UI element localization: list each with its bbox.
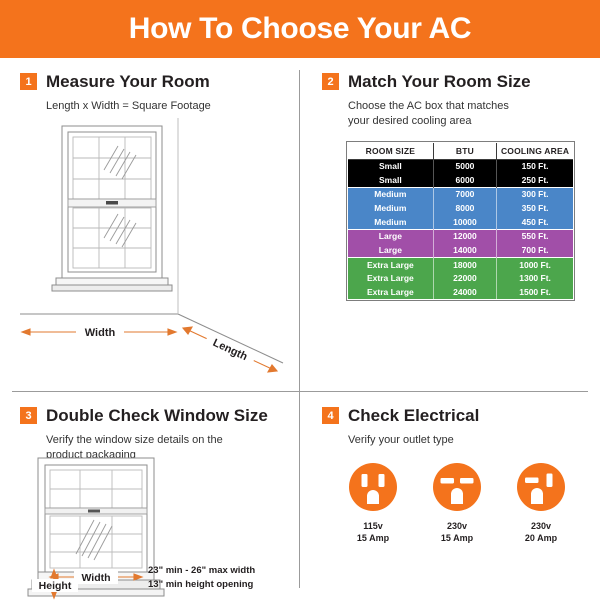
- steps-grid: 1 Measure Your Room Length x Width = Squ…: [0, 58, 600, 600]
- step-2-heading: 2 Match Your Room Size: [300, 58, 600, 90]
- step-2-title: Match Your Room Size: [348, 73, 531, 90]
- outlet-item-230v-20amp: 230v 20 Amp: [516, 462, 566, 544]
- cell-room-size: Large: [348, 229, 433, 243]
- col-btu: BTU: [433, 143, 496, 160]
- step-1-heading: 1 Measure Your Room: [0, 58, 299, 90]
- cell-room-size: Medium: [348, 187, 433, 201]
- cell-cooling-area: 350 Ft.: [497, 202, 573, 216]
- outlet-nema-6-15-icon: [432, 462, 482, 512]
- height-label-window: Height: [39, 580, 72, 592]
- cell-btu: 5000: [433, 159, 496, 173]
- outlet-amperage-1: 15 Amp: [357, 532, 389, 544]
- cell-btu: 18000: [433, 258, 496, 272]
- btu-table: ROOM SIZE BTU COOLING AREA Small5000150 …: [348, 143, 573, 299]
- cell-room-size: Large: [348, 243, 433, 257]
- outlet-voltage-1: 115v: [357, 520, 389, 532]
- width-label-room: Width: [85, 327, 116, 339]
- cell-btu: 24000: [433, 285, 496, 299]
- step-4-heading: 4 Check Electrical: [300, 392, 600, 424]
- window-spec-height: 13" min height opening: [148, 578, 255, 592]
- cell-btu: 6000: [433, 173, 496, 187]
- step-3-number: 3: [20, 407, 37, 424]
- step-4-title: Check Electrical: [348, 407, 479, 424]
- outlet-voltage-2: 230v: [441, 520, 473, 532]
- outlet-list: 115v 15 Amp 230v 15 Amp: [300, 448, 600, 544]
- step-1-panel: 1 Measure Your Room Length x Width = Squ…: [0, 58, 299, 391]
- cell-btu: 10000: [433, 215, 496, 229]
- window-spec-width: 23" min - 26" max width: [148, 564, 255, 578]
- cell-cooling-area: 150 Ft.: [497, 159, 573, 173]
- outlet-label-3: 230v 20 Amp: [525, 520, 557, 544]
- cell-room-size: Extra Large: [348, 258, 433, 272]
- outlet-item-115v-15amp: 115v 15 Amp: [348, 462, 398, 544]
- outlet-voltage-3: 230v: [525, 520, 557, 532]
- cell-btu: 12000: [433, 229, 496, 243]
- outlet-label-2: 230v 15 Amp: [441, 520, 473, 544]
- cell-btu: 8000: [433, 202, 496, 216]
- cell-cooling-area: 550 Ft.: [497, 229, 573, 243]
- cell-cooling-area: 1300 Ft.: [497, 272, 573, 286]
- table-row: Medium7000300 Ft.: [348, 187, 573, 201]
- cell-cooling-area: 700 Ft.: [497, 243, 573, 257]
- outlet-label-1: 115v 15 Amp: [357, 520, 389, 544]
- cell-room-size: Small: [348, 173, 433, 187]
- step-2-subtitle: Choose the AC box that matches your desi…: [300, 90, 600, 129]
- btu-table-body: Small5000150 Ft.Small6000250 Ft.Medium70…: [348, 159, 573, 299]
- cell-cooling-area: 1500 Ft.: [497, 285, 573, 299]
- outlet-amperage-3: 20 Amp: [525, 532, 557, 544]
- table-row: Extra Large180001000 Ft.: [348, 258, 573, 272]
- cell-btu: 22000: [433, 272, 496, 286]
- table-row: Large12000550 Ft.: [348, 229, 573, 243]
- outlet-nema-6-20-icon: [516, 462, 566, 512]
- outlet-amperage-2: 15 Amp: [441, 532, 473, 544]
- table-row: Medium10000450 Ft.: [348, 215, 573, 229]
- step-3-heading: 3 Double Check Window Size: [0, 392, 299, 424]
- table-row: Medium8000350 Ft.: [348, 202, 573, 216]
- table-row: Small5000150 Ft.: [348, 159, 573, 173]
- cell-cooling-area: 250 Ft.: [497, 173, 573, 187]
- btu-table-header-row: ROOM SIZE BTU COOLING AREA: [348, 143, 573, 160]
- col-cooling-area: COOLING AREA: [497, 143, 573, 160]
- outlet-nema-5-15-icon: [348, 462, 398, 512]
- cell-room-size: Small: [348, 159, 433, 173]
- step-2-panel: 2 Match Your Room Size Choose the AC box…: [300, 58, 600, 391]
- step-1-number: 1: [20, 73, 37, 90]
- step-4-number: 4: [322, 407, 339, 424]
- step-1-title: Measure Your Room: [46, 73, 210, 90]
- step-4-subtitle: Verify your outlet type: [300, 424, 600, 448]
- table-row: Small6000250 Ft.: [348, 173, 573, 187]
- step-3-panel: 3 Double Check Window Size Verify the wi…: [0, 392, 299, 600]
- step-2-number: 2: [322, 73, 339, 90]
- table-row: Large14000700 Ft.: [348, 243, 573, 257]
- cell-btu: 14000: [433, 243, 496, 257]
- cell-cooling-area: 450 Ft.: [497, 215, 573, 229]
- cell-cooling-area: 300 Ft.: [497, 187, 573, 201]
- cell-room-size: Medium: [348, 215, 433, 229]
- page-title: How To Choose Your AC: [129, 14, 472, 44]
- cell-room-size: Extra Large: [348, 272, 433, 286]
- window-spec-text: 23" min - 26" max width 13" min height o…: [148, 564, 255, 592]
- btu-table-container: ROOM SIZE BTU COOLING AREA Small5000150 …: [346, 141, 575, 301]
- table-row: Extra Large240001500 Ft.: [348, 285, 573, 299]
- step-1-subtitle: Length x Width = Square Footage: [0, 90, 299, 114]
- page-header: How To Choose Your AC: [0, 0, 600, 58]
- infographic-page: How To Choose Your AC 1 Measure Your Roo…: [0, 0, 600, 600]
- cell-btu: 7000: [433, 187, 496, 201]
- cell-cooling-area: 1000 Ft.: [497, 258, 573, 272]
- step-4-panel: 4 Check Electrical Verify your outlet ty…: [300, 392, 600, 600]
- table-row: Extra Large220001300 Ft.: [348, 272, 573, 286]
- step-3-title: Double Check Window Size: [46, 407, 268, 424]
- room-corner-diagram: Width Length: [0, 118, 299, 383]
- col-room-size: ROOM SIZE: [348, 143, 433, 160]
- cell-room-size: Extra Large: [348, 285, 433, 299]
- outlet-item-230v-15amp: 230v 15 Amp: [432, 462, 482, 544]
- width-label-window: Width: [81, 572, 110, 584]
- cell-room-size: Medium: [348, 202, 433, 216]
